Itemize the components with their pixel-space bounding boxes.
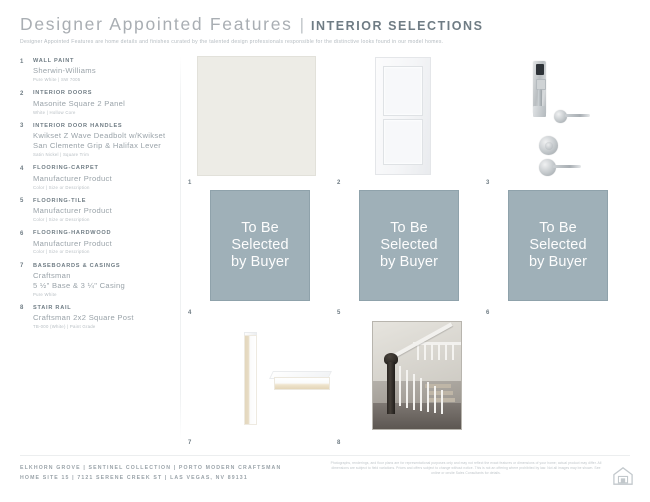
handleset-foot-icon	[533, 106, 546, 117]
casing-profile	[274, 377, 330, 390]
spec-number: 4	[20, 165, 33, 190]
list-item: 8 STAIR RAIL Craftsman 2x2 Square Post T…	[20, 305, 175, 330]
page-title: Designer Appointed Features | INTERIOR S…	[20, 14, 630, 35]
panel-number: 2	[337, 180, 341, 186]
stair-rail-photo	[372, 321, 462, 430]
placeholder-tile: To Be Selected by Buyer	[359, 190, 459, 301]
placeholder-label: To Be Selected by Buyer	[529, 220, 587, 271]
stair-tread	[425, 384, 451, 388]
hardware-image	[495, 56, 614, 176]
panel-carpet-selection: To Be Selected by Buyer 4	[188, 190, 325, 316]
list-item: 5 FLOORING-TILE Manufacturer Product Col…	[20, 198, 175, 223]
baluster	[413, 374, 415, 410]
spec-description: Pure White | SW 7005	[33, 77, 175, 83]
list-item: 4 FLOORING-CARPET Manufacturer Product C…	[20, 165, 175, 190]
stair-tread	[427, 391, 453, 395]
disclaimer-text: Photographs, renderings, and floor plans…	[330, 461, 602, 476]
panel-number: 1	[188, 180, 192, 186]
vertical-divider	[180, 56, 181, 441]
list-item: 2 INTERIOR DOORS Masonite Square 2 Panel…	[20, 90, 175, 115]
selection-panel-grid: 1 2	[188, 56, 630, 446]
panel-number: 7	[188, 440, 192, 446]
title-main: Designer Appointed Features	[20, 14, 293, 35]
spec-description: Pure White	[33, 292, 175, 298]
baluster	[406, 370, 408, 408]
halifax-lever-icon	[565, 114, 590, 117]
spec-number: 5	[20, 198, 33, 223]
door-image	[346, 56, 465, 176]
baluster	[434, 386, 436, 413]
spec-sheet: Designer Appointed Features | INTERIOR S…	[0, 0, 650, 502]
spec-product: Manufacturer Product	[33, 239, 175, 249]
panel-number: 8	[337, 440, 341, 446]
placeholder-tile: To Be Selected by Buyer	[210, 190, 310, 301]
spec-category: STAIR RAIL	[33, 305, 175, 312]
baluster	[452, 344, 454, 360]
deadbolt-cylinder-icon	[545, 142, 553, 150]
spec-description: Satin Nickel | Square Trim	[33, 152, 175, 158]
title-divider: |	[300, 15, 304, 35]
spec-description: Color | Size or Description	[33, 185, 175, 191]
placeholder-label: To Be Selected by Buyer	[380, 220, 438, 271]
spec-list: 1 WALL PAINT Sherwin-Williams Pure White…	[20, 58, 175, 337]
spec-category: INTERIOR DOORS	[33, 90, 175, 97]
equal-housing-opportunity-icon	[612, 466, 634, 486]
spec-number: 8	[20, 305, 33, 330]
panel-door-hardware: 3	[486, 56, 623, 186]
baluster	[445, 344, 447, 360]
community-line: ELKHORN GROVE | SENTINEL COLLECTION | PO…	[20, 464, 281, 474]
baluster	[424, 344, 426, 360]
spec-category: FLOORING-HARDWOOD	[33, 230, 175, 237]
list-item: 3 INTERIOR DOOR HANDLES Kwikset Z Wave D…	[20, 123, 175, 158]
spec-category: WALL PAINT	[33, 58, 175, 65]
spec-description: Color | Size or Description	[33, 217, 175, 223]
spec-category: BASEBOARDS & CASINGS	[33, 263, 175, 270]
panel-number: 6	[486, 310, 490, 316]
panel-hardwood-selection: To Be Selected by Buyer 6	[486, 190, 623, 316]
spec-number: 1	[20, 58, 33, 83]
baluster	[441, 390, 443, 414]
baluster	[420, 378, 422, 411]
panel-number: 3	[486, 180, 490, 186]
baluster	[438, 344, 440, 360]
spec-number: 3	[20, 123, 33, 158]
baluster	[399, 366, 401, 406]
spec-category: INTERIOR DOOR HANDLES	[33, 123, 175, 130]
lever-secondary-icon	[553, 165, 581, 168]
baluster	[417, 344, 419, 360]
list-item: 1 WALL PAINT Sherwin-Williams Pure White…	[20, 58, 175, 83]
door-lower-panel	[383, 119, 423, 165]
spec-description: White | Hollow Core	[33, 110, 175, 116]
paint-swatch-image	[197, 56, 316, 176]
list-item: 6 FLOORING-HARDWOOD Manufacturer Product…	[20, 230, 175, 255]
spec-product: Sherwin-Williams	[33, 66, 175, 76]
title-subtitle-label: INTERIOR SELECTIONS	[311, 19, 484, 33]
spec-number: 2	[20, 90, 33, 115]
newel-post	[387, 362, 395, 414]
address-line: HOME SITE 15 | 7121 SERENE CREEK ST | LA…	[20, 474, 281, 484]
panel-interior-door: 2	[337, 56, 474, 186]
spec-product: Craftsman 2x2 Square Post	[33, 313, 175, 323]
placeholder-label: To Be Selected by Buyer	[231, 220, 289, 271]
footer-community-info: ELKHORN GROVE | SENTINEL COLLECTION | PO…	[20, 464, 281, 483]
spec-number: 7	[20, 263, 33, 298]
spec-description: TB-000 (White) | Paint Grade	[33, 324, 175, 330]
spec-product: Kwikset Z Wave Deadbolt w/Kwikset San Cl…	[33, 131, 175, 150]
panel-baseboard-casing: 7	[188, 321, 325, 446]
spec-product: Manufacturer Product	[33, 174, 175, 184]
spec-category: FLOORING-TILE	[33, 198, 175, 205]
placeholder-tile: To Be Selected by Buyer	[508, 190, 608, 301]
panel-number: 5	[337, 310, 341, 316]
panel-stair-rail: 8	[337, 321, 474, 446]
footer-disclaimer: Photographs, renderings, and floor plans…	[330, 461, 602, 476]
spec-product: Masonite Square 2 Panel	[33, 99, 175, 109]
baluster	[431, 344, 433, 360]
spec-description: Color | Size or Description	[33, 249, 175, 255]
spec-product: Manufacturer Product	[33, 206, 175, 216]
page-header: Designer Appointed Features | INTERIOR S…	[20, 14, 630, 45]
baluster	[427, 382, 429, 412]
panel-paint-swatch: 1	[188, 56, 325, 186]
page-description: Designer Appointed Features are home det…	[20, 39, 630, 45]
baseboard-profile	[244, 335, 257, 425]
door-upper-panel	[383, 66, 423, 116]
panel-number: 4	[188, 310, 192, 316]
spec-product: Craftsman 5 ½" Base & 3 ¼" Casing	[33, 271, 175, 290]
trim-image	[197, 321, 316, 439]
panel-tile-selection: To Be Selected by Buyer 5	[337, 190, 474, 316]
keypad-icon	[536, 64, 544, 75]
list-item: 7 BASEBOARDS & CASINGS Craftsman 5 ½" Ba…	[20, 263, 175, 298]
spec-number: 6	[20, 230, 33, 255]
spec-category: FLOORING-CARPET	[33, 165, 175, 172]
footer-divider	[20, 455, 630, 456]
